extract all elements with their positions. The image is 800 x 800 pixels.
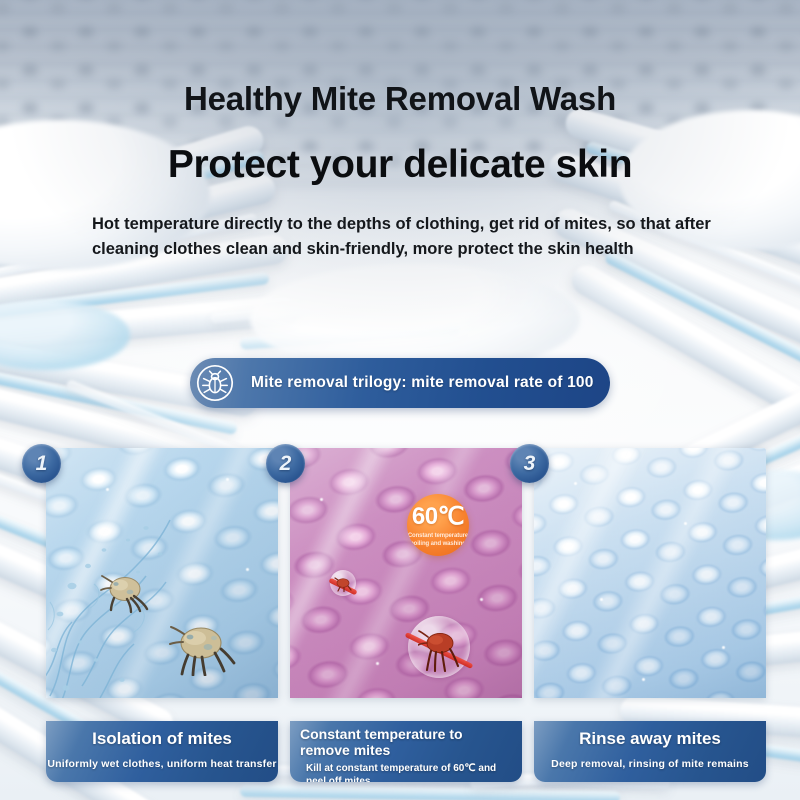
temperature-caption-line1: Constant temperature: [407, 532, 469, 540]
temperature-caption-line2: boiling and washing: [407, 540, 469, 548]
dust-mite-2: [168, 620, 240, 676]
intro-paragraph: Hot temperature directly to the depths o…: [92, 212, 712, 262]
step-1-caption: Isolation of mites Uniformly wet clothes…: [46, 721, 278, 782]
card-gap: [290, 698, 522, 721]
step-1-subtitle: Uniformly wet clothes, uniform heat tran…: [46, 758, 278, 770]
page-title: Healthy Mite Removal Wash: [0, 80, 800, 118]
red-mite-1: [334, 576, 354, 592]
step-number-3: 3: [524, 452, 536, 476]
temperature-badge: 60℃ Constant temperature boiling and was…: [407, 494, 469, 556]
step-3-title: Rinse away mites: [534, 729, 766, 749]
step-number-2: 2: [280, 452, 292, 476]
page-subtitle: Protect your delicate skin: [0, 143, 800, 187]
step-1-image: [46, 448, 278, 698]
card-gap: [46, 698, 278, 721]
step-number-1: 1: [36, 452, 48, 476]
step-number-badge: 3: [510, 444, 549, 483]
infographic-poster: Healthy Mite Removal Wash Protect your d…: [0, 0, 800, 800]
step-card-3[interactable]: 3 Rinse away mites Deep removal, rinsing…: [534, 448, 766, 782]
mite-bug-icon: [193, 361, 237, 405]
card-gap: [534, 698, 766, 721]
step-3-caption: Rinse away mites Deep removal, rinsing o…: [534, 721, 766, 782]
dust-mite-1: [100, 570, 156, 614]
temperature-value: 60℃: [407, 502, 469, 532]
red-mite-2: [418, 628, 464, 672]
step-2-caption: Constant temperature to remove mites Kil…: [290, 721, 522, 782]
step-card-1[interactable]: 1: [46, 448, 278, 782]
step-3-subtitle: Deep removal, rinsing of mite remains: [534, 758, 766, 770]
step-1-title: Isolation of mites: [46, 729, 278, 749]
step-card-2[interactable]: 2 60℃ Constant temperature boiling and w…: [290, 448, 522, 782]
step-number-badge: 1: [22, 444, 61, 483]
step-2-image: 60℃ Constant temperature boiling and was…: [290, 448, 522, 698]
mite-removal-banner[interactable]: Mite removal trilogy: mite removal rate …: [190, 358, 610, 408]
steps-card-row: 1: [0, 424, 800, 774]
step-3-image: [534, 448, 766, 698]
banner-label: Mite removal trilogy: mite removal rate …: [251, 374, 594, 392]
step-2-subtitle: Kill at constant temperature of 60℃ and …: [306, 763, 511, 782]
step-2-title: Constant temperature to remove mites: [300, 726, 515, 758]
step-number-badge: 2: [266, 444, 305, 483]
